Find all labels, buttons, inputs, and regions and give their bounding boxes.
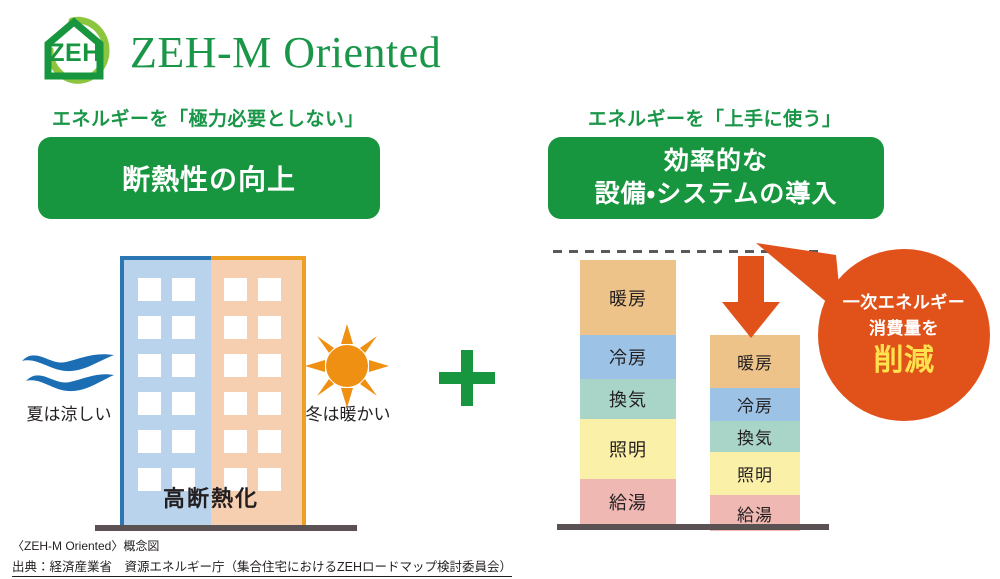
building-window bbox=[258, 316, 281, 339]
bar-before-stack: 暖房冷房換気照明給湯 bbox=[580, 260, 676, 525]
right-column-heading: エネルギーを「上手に使う」 bbox=[588, 104, 842, 131]
down-arrow-icon bbox=[722, 256, 780, 338]
building-window bbox=[138, 316, 161, 339]
building-window bbox=[172, 430, 195, 453]
left-banner: 断熱性の向上 bbox=[38, 137, 380, 219]
energy-segment: 冷房 bbox=[580, 335, 676, 379]
building-label: 高断熱化 bbox=[120, 481, 302, 513]
callout-line-1: 一次エネルギー bbox=[843, 290, 966, 316]
building-window bbox=[172, 392, 195, 415]
energy-segment-label: 冷房 bbox=[609, 344, 647, 370]
energy-segment: 冷房 bbox=[710, 388, 800, 421]
energy-segment: 暖房 bbox=[580, 260, 676, 335]
right-banner-line-1: 効率的な bbox=[595, 145, 838, 178]
figure-source: 出典：経済産業省 資源エネルギー庁（集合住宅におけるZEHロードマップ検討委員会… bbox=[12, 556, 512, 577]
energy-segment: 給湯 bbox=[580, 479, 676, 525]
page-title: ZEH-M Oriented bbox=[130, 26, 441, 80]
bar-after-stack: 暖房冷房換気照明給湯 bbox=[710, 335, 800, 531]
reduction-callout: 一次エネルギー 消費量を 削減 bbox=[818, 249, 990, 421]
building-window bbox=[258, 430, 281, 453]
wave-icon bbox=[20, 348, 116, 396]
building-window bbox=[138, 278, 161, 301]
infographic-canvas: ZEH ZEH-M Oriented エネルギーを「極力必要としない」 エネルギ… bbox=[0, 0, 1000, 579]
energy-segment-label: 給湯 bbox=[737, 501, 773, 526]
building-window bbox=[138, 430, 161, 453]
plus-icon bbox=[437, 348, 497, 408]
building-window bbox=[258, 392, 281, 415]
building-window bbox=[172, 316, 195, 339]
winter-label: 冬は暖かい bbox=[300, 400, 396, 425]
energy-segment: 換気 bbox=[710, 421, 800, 452]
summer-label: 夏は涼しい bbox=[16, 400, 122, 425]
callout-text: 一次エネルギー 消費量を 削減 bbox=[818, 249, 990, 421]
right-banner-line-2: 設備・システムの導入 bbox=[595, 178, 838, 211]
building-window bbox=[138, 392, 161, 415]
right-ground-line bbox=[557, 524, 829, 530]
energy-segment-label: 照明 bbox=[609, 436, 647, 462]
energy-segment-label: 照明 bbox=[737, 461, 773, 486]
left-ground-line bbox=[95, 525, 357, 531]
building-window bbox=[224, 430, 247, 453]
sun-icon bbox=[305, 324, 389, 408]
energy-segment: 照明 bbox=[580, 419, 676, 479]
figure-caption: 〈ZEH-M Oriented〉概念図 bbox=[12, 537, 159, 554]
building-window bbox=[224, 278, 247, 301]
energy-segment-label: 冷房 bbox=[737, 392, 773, 417]
right-banner: 効率的な 設備・システムの導入 bbox=[548, 137, 884, 219]
energy-segment-label: 給湯 bbox=[609, 489, 647, 515]
energy-segment: 暖房 bbox=[710, 335, 800, 388]
energy-segment-label: 暖房 bbox=[737, 349, 773, 374]
building-window bbox=[224, 354, 247, 377]
svg-text:ZEH: ZEH bbox=[49, 39, 101, 67]
building-window bbox=[172, 354, 195, 377]
apartment-building-illustration: 高断熱化 bbox=[120, 256, 302, 525]
building-window bbox=[172, 278, 195, 301]
building-window bbox=[224, 316, 247, 339]
energy-segment-label: 換気 bbox=[737, 424, 773, 449]
building-window bbox=[224, 392, 247, 415]
building-window bbox=[258, 278, 281, 301]
callout-line-3: 削減 bbox=[874, 342, 935, 380]
energy-segment: 照明 bbox=[710, 452, 800, 495]
building-window bbox=[258, 354, 281, 377]
callout-line-2: 消費量を bbox=[869, 316, 939, 342]
energy-segment-label: 換気 bbox=[609, 386, 647, 412]
energy-segment: 換気 bbox=[580, 379, 676, 419]
building-window bbox=[138, 354, 161, 377]
energy-segment-label: 暖房 bbox=[609, 285, 647, 311]
zeh-logo-icon: ZEH bbox=[14, 14, 124, 86]
left-column-heading: エネルギーを「極力必要としない」 bbox=[52, 104, 364, 131]
